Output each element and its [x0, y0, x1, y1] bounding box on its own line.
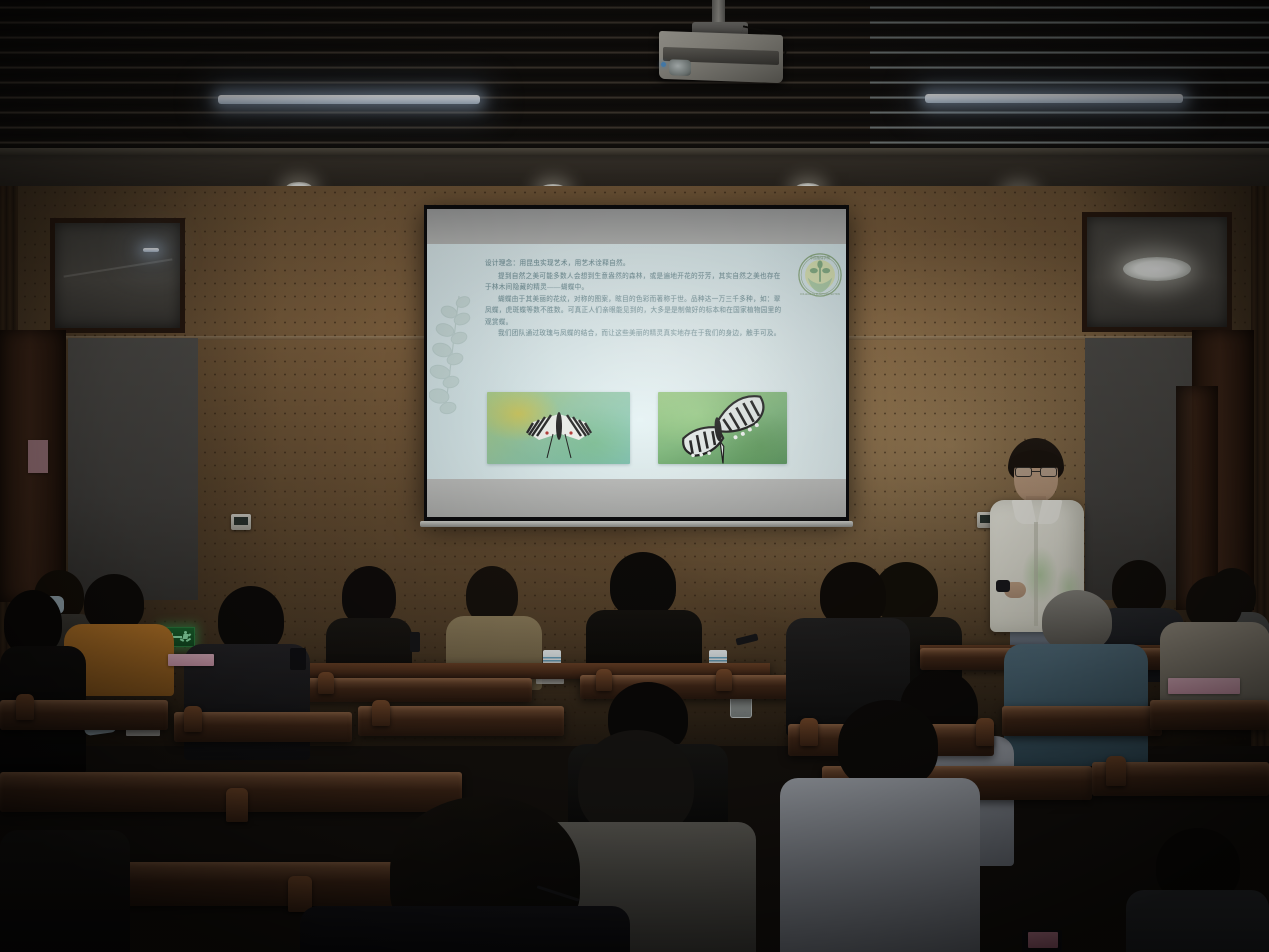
wall-control-panel[interactable]: [231, 514, 251, 530]
pink-folder: [1168, 678, 1240, 694]
audience-member: [1004, 590, 1148, 764]
projector-status-led: [661, 62, 666, 67]
control-panel-display: [234, 517, 248, 525]
slatted-ceiling: [0, 0, 1269, 172]
screen-top-letterbox: [427, 209, 846, 244]
slide-paragraph: 提到自然之美可能多数人会想到生意盎然的森林，或是遍地开花的芬芳，其实自然之美也存…: [485, 271, 785, 294]
left-transom-window: [50, 218, 185, 333]
round-ceiling-lamp: [1123, 257, 1191, 281]
ceiling-soffit-edge: [0, 148, 1269, 155]
svg-text:COLLEGE OF PLANT PROTECTION: COLLEGE OF PLANT PROTECTION: [800, 293, 840, 296]
person-torso: [1126, 890, 1269, 952]
linear-strip-light: [218, 95, 480, 104]
person-torso: [780, 778, 980, 952]
bench-armrest: [226, 788, 248, 822]
college-of-plant-protection-emblem: 中国植保学院 COLLEGE OF PLANT PROTECTION: [798, 253, 842, 297]
person-torso: [1004, 644, 1148, 766]
screen-bottom-letterbox: [427, 479, 846, 517]
person-head: [1042, 590, 1112, 652]
audience-member-foreground: [0, 830, 130, 952]
bench-back: [300, 678, 532, 702]
slide-paragraph: 蝴蝶由于其美丽的花纹，对称的图案，眩目的色彩而著称于世。品种达一万三千多种，如：…: [485, 294, 785, 329]
person-head: [838, 700, 938, 790]
transom-visible-light: [143, 248, 159, 252]
microphone: [410, 632, 420, 652]
projector-body: [659, 31, 783, 83]
slide-photo-row: [487, 392, 787, 464]
zebra-swallowtail-butterfly: [487, 392, 630, 464]
projector-lens: [669, 59, 691, 76]
pink-folder: [168, 654, 214, 666]
eucalyptus-branch-watermark: [429, 292, 475, 417]
screen-weight-bar: [420, 521, 853, 527]
bench-back: [1002, 706, 1162, 736]
bench-armrest: [318, 672, 334, 694]
svg-text:中国植保学院: 中国植保学院: [810, 255, 830, 260]
presenter-glasses: [1015, 467, 1057, 477]
projection-screen: 设计理念：用昆虫实现艺术，用艺术诠释自然。 提到自然之美可能多数人会想到生意盎然…: [424, 205, 849, 521]
audience-member: [1126, 828, 1269, 952]
swallowtail-butterfly: [658, 392, 787, 464]
slide-heading: 设计理念：用昆虫实现艺术，用艺术诠释自然。: [485, 258, 785, 270]
ceiling-lit-section: [870, 0, 1269, 172]
screen-surface: 设计理念：用昆虫实现艺术，用艺术诠释自然。 提到自然之美可能多数人会想到生意盎然…: [427, 209, 846, 517]
presentation-slide: 设计理念：用昆虫实现艺术，用艺术诠释自然。 提到自然之美可能多数人会想到生意盎然…: [427, 244, 846, 479]
bench-armrest: [372, 700, 390, 726]
bench-armrest: [1106, 756, 1126, 786]
bench-armrest: [184, 706, 202, 732]
lecture-hall-scene: 设计理念：用昆虫实现艺术，用艺术诠释自然。 提到自然之美可能多数人会想到生意盎然…: [0, 0, 1269, 952]
audience-member: [1160, 576, 1269, 716]
door-notice-paper: [28, 440, 48, 473]
linear-strip-light: [925, 94, 1183, 103]
smartphone: [290, 648, 306, 670]
bench-back: [1150, 700, 1269, 730]
glasses-lens-left: [1015, 467, 1032, 477]
transom-reflection-line: [63, 259, 172, 278]
audience-member: [0, 590, 86, 770]
person-torso: [0, 830, 130, 952]
audience-member-foreground: [300, 796, 630, 952]
pink-folder: [1028, 932, 1058, 948]
slide-paragraph: 我们团队通过玫瑰与凤蝶的结合，而让这些美丽的精灵真实地存在于我们的身边，触手可及…: [485, 328, 785, 340]
right-transom-window: [1082, 212, 1232, 332]
person-torso: [300, 906, 630, 952]
bench-armrest: [16, 694, 34, 720]
projector-ceiling-mount: [712, 0, 725, 24]
glasses-bridge: [1032, 471, 1040, 472]
slide-text-block: 设计理念：用昆虫实现艺术，用艺术诠释自然。 提到自然之美可能多数人会想到生意盎然…: [485, 258, 785, 340]
person-head: [342, 566, 396, 626]
person-head: [610, 552, 676, 618]
left-door-wall: [68, 338, 198, 600]
glasses-lens-right: [1040, 467, 1057, 477]
butterfly-photo-swallowtail: [658, 392, 787, 464]
audience-member-foreground: [780, 700, 980, 952]
butterfly-photo-zebra-swallowtail: [487, 392, 630, 464]
